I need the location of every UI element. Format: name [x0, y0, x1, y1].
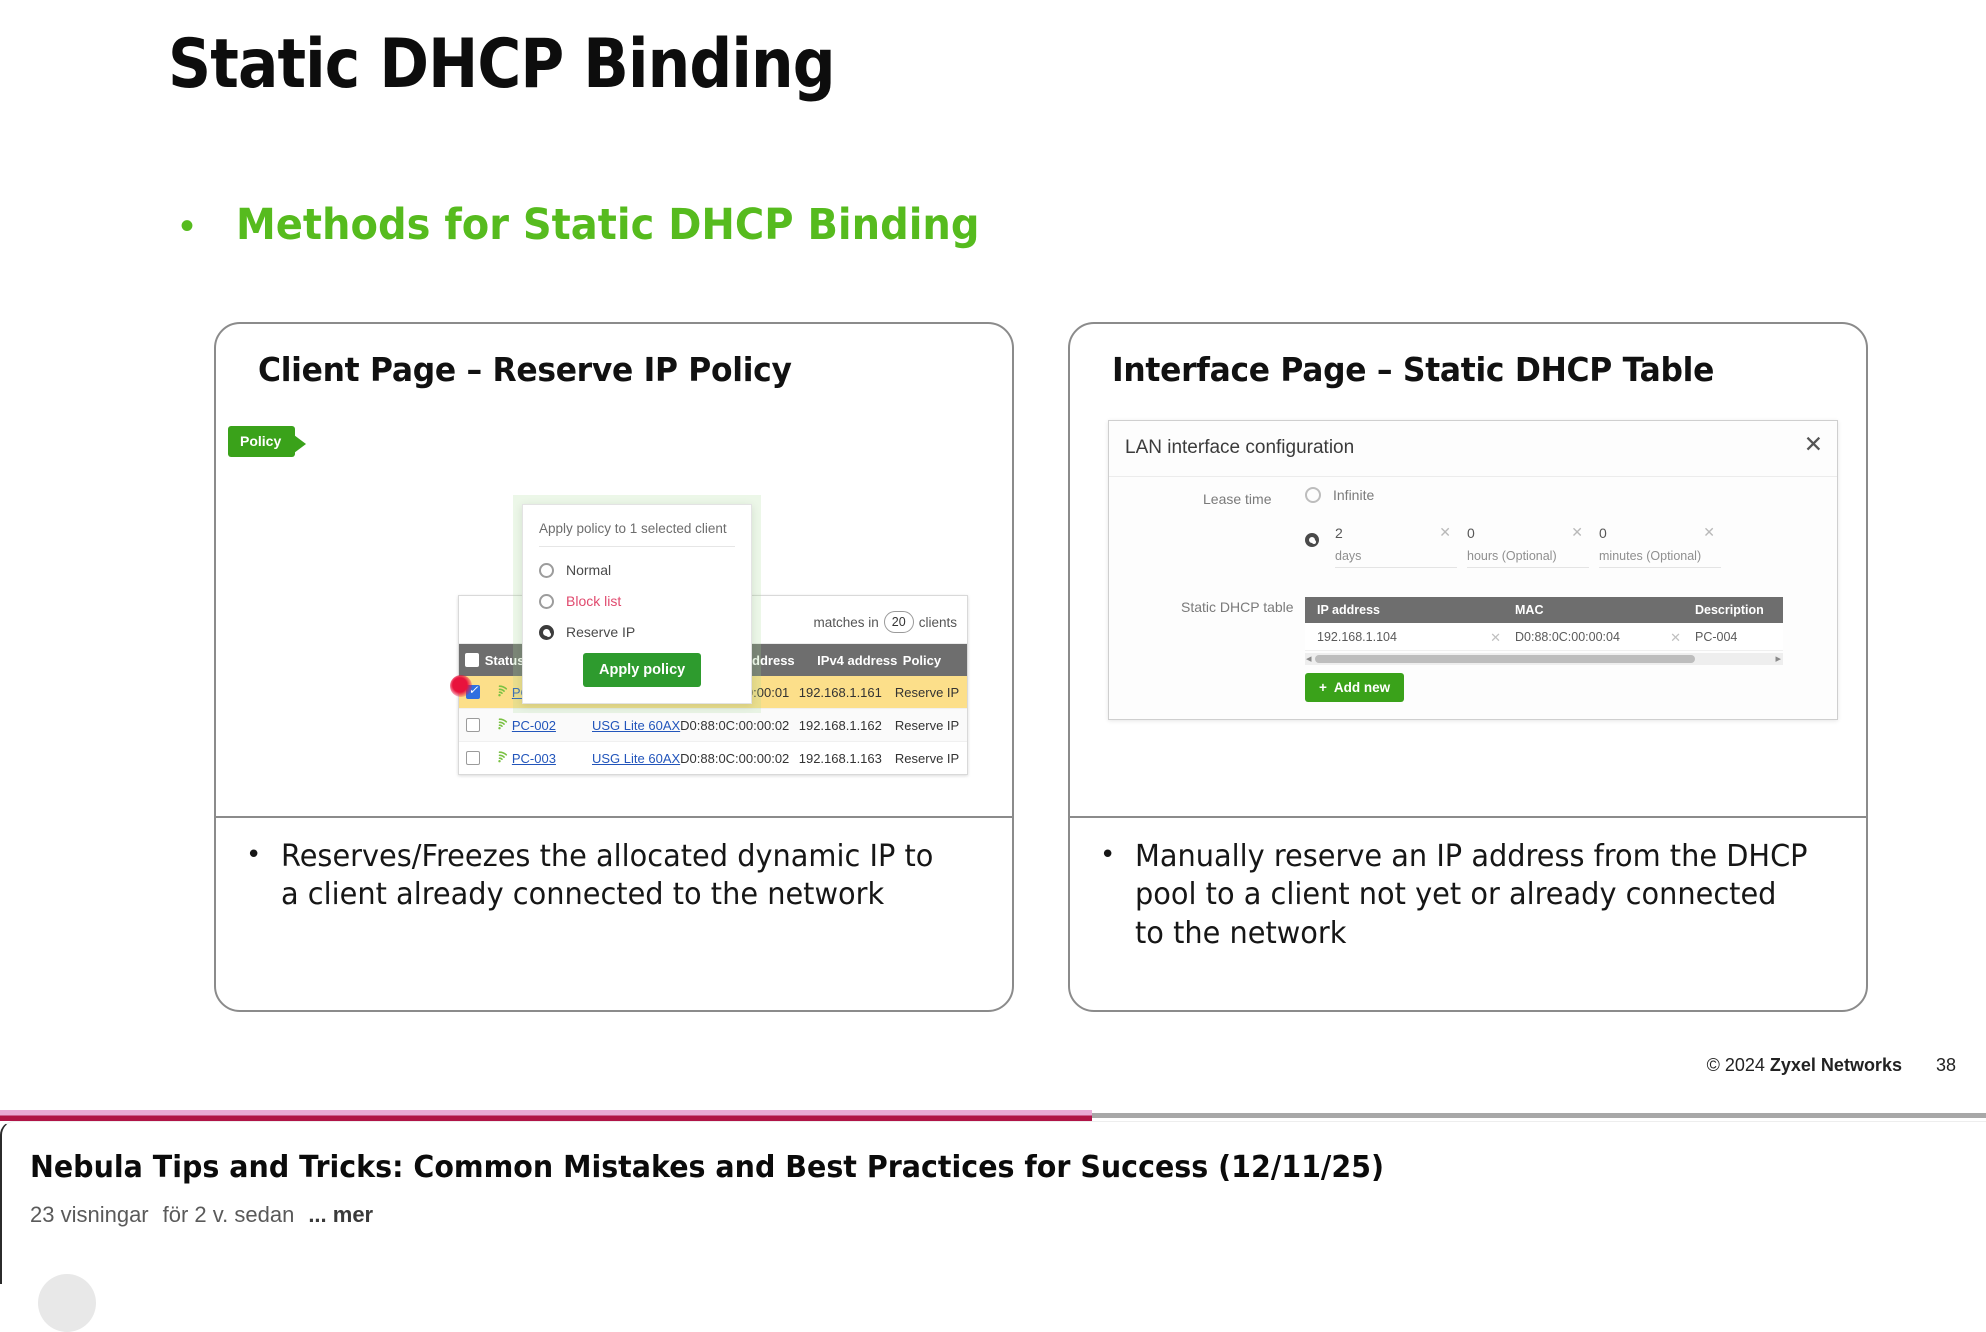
- divider: [1109, 476, 1837, 477]
- slide-page-number: 38: [1936, 1055, 1956, 1076]
- slide-canvas: Static DHCP Binding • Methods for Static…: [0, 0, 1986, 1116]
- row-checkbox[interactable]: [459, 718, 488, 732]
- slide-footer: © 2024 Zyxel Networks 38: [1707, 1055, 1956, 1076]
- cell-mac: D0:88:0C:00:00:02: [680, 751, 799, 766]
- scroll-right-icon[interactable]: ▸: [1775, 652, 1781, 665]
- column-ip-address[interactable]: IP address: [1305, 603, 1515, 617]
- dialog-title: LAN interface configuration: [1125, 437, 1354, 459]
- video-meta: 23 visningar för 2 v. sedan ... mer: [30, 1202, 373, 1228]
- matches-count: 20: [884, 611, 914, 633]
- bullet-icon: •: [1100, 838, 1115, 953]
- brand-name: Zyxel Networks: [1770, 1055, 1902, 1075]
- upload-age: för 2 v. sedan: [163, 1202, 295, 1228]
- clear-icon[interactable]: ✕: [1670, 630, 1681, 646]
- plus-icon: +: [1319, 680, 1327, 695]
- cell-policy: Reserve IP: [895, 751, 967, 766]
- cell-ip-address[interactable]: 192.168.1.104 ✕: [1305, 630, 1515, 644]
- cursor-click-marker: [450, 675, 472, 697]
- bullet-icon: •: [246, 838, 261, 915]
- wifi-icon: [488, 684, 512, 701]
- matches-indicator: matches in 20 clients: [813, 611, 957, 633]
- option-label: Block list: [566, 593, 621, 609]
- static-dhcp-table: IP address MAC Description 192.168.1.104…: [1305, 597, 1783, 667]
- apply-policy-button[interactable]: Apply policy: [583, 653, 701, 687]
- cell-description[interactable]: PC-004: [1695, 630, 1783, 644]
- view-count: 23 visningar: [30, 1202, 149, 1228]
- apply-policy-popup: Apply policy to 1 selected client Normal…: [522, 504, 752, 704]
- static-dhcp-table-label: Static DHCP table: [1181, 599, 1294, 615]
- table-row[interactable]: 192.168.1.104 ✕ D0:88:0C:00:00:04 ✕ PC-0…: [1305, 623, 1783, 651]
- cell-policy: Reserve IP: [895, 718, 967, 733]
- clear-icon[interactable]: ✕: [1571, 524, 1583, 541]
- lease-days-field[interactable]: 2 ✕ days: [1335, 523, 1457, 568]
- copyright-text: © 2024 Zyxel Networks: [1707, 1055, 1902, 1076]
- select-all-checkbox[interactable]: [459, 653, 485, 667]
- video-info-panel: Nebula Tips and Tricks: Common Mistakes …: [0, 1121, 1986, 1284]
- cell-ipv4: 192.168.1.162: [799, 718, 895, 733]
- radio-option-infinite[interactable]: Infinite: [1305, 487, 1374, 503]
- cell-ipv4: 192.168.1.161: [799, 685, 895, 700]
- table-row[interactable]: PC-003 USG Lite 60AX D0:88:0C:00:00:02 1…: [459, 742, 967, 775]
- cell-ipv4: 192.168.1.163: [799, 751, 895, 766]
- option-label: Normal: [566, 562, 611, 578]
- cell-policy: Reserve IP: [895, 685, 967, 700]
- page-title: Static DHCP Binding: [168, 25, 835, 104]
- radio-option-block-list[interactable]: Block list: [539, 593, 735, 609]
- add-new-button[interactable]: + Add new: [1305, 673, 1404, 702]
- clear-icon[interactable]: ✕: [1703, 524, 1715, 541]
- matches-prefix: matches in: [813, 615, 878, 630]
- card-right-note: • Manually reserve an IP address from th…: [1100, 838, 1842, 953]
- note-text: Manually reserve an IP address from the …: [1135, 838, 1813, 953]
- scrollbar-thumb[interactable]: [1315, 655, 1695, 663]
- radio-option-reserve-ip[interactable]: Reserve IP: [539, 624, 735, 640]
- close-icon[interactable]: ✕: [1804, 433, 1823, 456]
- field-hint: minutes (Optional): [1599, 549, 1721, 563]
- clear-icon[interactable]: ✕: [1490, 630, 1501, 646]
- scroll-left-icon[interactable]: ◂: [1306, 652, 1312, 665]
- lease-minutes-field[interactable]: 0 ✕ minutes (Optional): [1599, 523, 1721, 568]
- field-hint: days: [1335, 549, 1457, 563]
- card-interface-page: Interface Page – Static DHCP Table LAN i…: [1068, 322, 1868, 1012]
- field-hint: hours (Optional): [1467, 549, 1589, 563]
- radio-icon: [1305, 487, 1321, 503]
- table-row[interactable]: PC-002 USG Lite 60AX D0:88:0C:00:00:02 1…: [459, 709, 967, 742]
- show-more-button[interactable]: ... mer: [308, 1202, 373, 1228]
- wifi-icon: [488, 717, 512, 734]
- column-ipv4-address[interactable]: IPv4 address: [817, 653, 903, 668]
- matches-suffix: clients: [919, 615, 957, 630]
- video-title: Nebula Tips and Tricks: Common Mistakes …: [30, 1150, 1384, 1185]
- lease-duration-row: 2 ✕ days 0 ✕ hours (Optional) 0 ✕ minute…: [1305, 523, 1731, 568]
- radio-icon: [539, 594, 554, 609]
- device-link[interactable]: USG Lite 60AX: [592, 751, 680, 766]
- column-description[interactable]: Description: [1695, 603, 1783, 617]
- horizontal-scrollbar[interactable]: ◂ ▸: [1305, 653, 1783, 665]
- video-progress-bar[interactable]: [0, 1110, 1986, 1120]
- radio-icon: [539, 563, 554, 578]
- lease-time-label: Lease time: [1203, 491, 1271, 507]
- copyright-prefix: © 2024: [1707, 1055, 1770, 1075]
- divider: [216, 816, 1012, 818]
- note-text: Reserves/Freezes the allocated dynamic I…: [281, 838, 959, 915]
- column-mac[interactable]: MAC: [1515, 603, 1695, 617]
- lease-hours-field[interactable]: 0 ✕ hours (Optional): [1467, 523, 1589, 568]
- subheading-label: Methods for Static DHCP Binding: [236, 200, 980, 250]
- policy-dropdown-button[interactable]: Policy: [228, 426, 295, 457]
- avatar[interactable]: [38, 1274, 96, 1332]
- client-page-screenshot: matches in 20 clients Status MAC address…: [226, 420, 1006, 800]
- clear-icon[interactable]: ✕: [1439, 524, 1451, 541]
- table-header-row: IP address MAC Description: [1305, 597, 1783, 623]
- cell-mac: D0:88:0C:00:00:02: [680, 718, 799, 733]
- wifi-icon: [488, 750, 512, 767]
- option-label: Reserve IP: [566, 624, 635, 640]
- card-right-title: Interface Page – Static DHCP Table: [1112, 350, 1714, 389]
- mac-value: D0:88:0C:00:00:04: [1515, 630, 1620, 644]
- cell-mac[interactable]: D0:88:0C:00:00:04 ✕: [1515, 630, 1695, 644]
- client-name-link[interactable]: PC-002: [512, 718, 556, 733]
- card-client-page: Client Page – Reserve IP Policy matches …: [214, 322, 1014, 1012]
- row-checkbox[interactable]: [459, 751, 488, 765]
- column-policy[interactable]: Policy: [903, 653, 967, 668]
- radio-option-normal[interactable]: Normal: [539, 562, 735, 578]
- lan-interface-dialog: LAN interface configuration ✕ Lease time…: [1108, 420, 1838, 720]
- add-new-label: Add new: [1334, 680, 1390, 695]
- radio-selected-icon: [539, 625, 554, 640]
- card-left-note: • Reserves/Freezes the allocated dynamic…: [246, 838, 988, 915]
- subheading: • Methods for Static DHCP Binding: [180, 200, 1036, 250]
- popup-title: Apply policy to 1 selected client: [539, 521, 735, 547]
- card-left-title: Client Page – Reserve IP Policy: [258, 350, 792, 389]
- bullet-icon: •: [180, 206, 194, 246]
- radio-selected-icon[interactable]: [1305, 533, 1319, 547]
- divider: [1070, 816, 1866, 818]
- ip-value: 192.168.1.104: [1317, 630, 1397, 644]
- device-link[interactable]: USG Lite 60AX: [592, 718, 680, 733]
- client-name-link[interactable]: PC-003: [512, 751, 556, 766]
- progress-played[interactable]: [0, 1110, 1092, 1121]
- option-label: Infinite: [1333, 487, 1374, 503]
